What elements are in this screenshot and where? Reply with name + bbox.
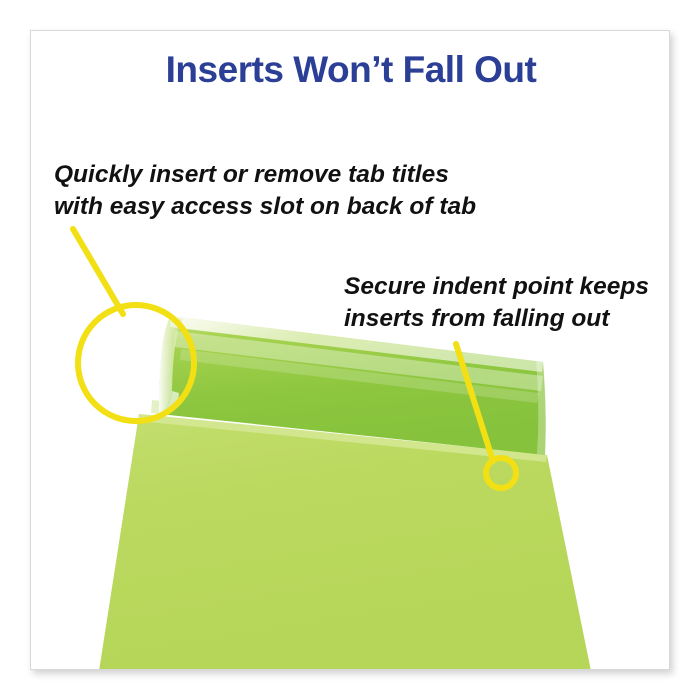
product-feature-image: Inserts Won’t Fall Out Quickly insert or…	[0, 0, 700, 700]
product-illustration	[31, 31, 670, 670]
callout-text-indent-point: Secure indent point keeps inserts from f…	[344, 271, 649, 335]
page-title: Inserts Won’t Fall Out	[31, 49, 670, 91]
callout-line-2: inserts from falling out	[344, 303, 649, 335]
callout-line-2: with easy access slot on back of tab	[54, 191, 476, 223]
callout-line-1: Secure indent point keeps	[344, 271, 649, 303]
divider-body	[99, 414, 591, 670]
callout-line-1: Quickly insert or remove tab titles	[54, 159, 476, 191]
callout-text-access-slot: Quickly insert or remove tab titles with…	[54, 159, 476, 223]
product-card: Inserts Won’t Fall Out Quickly insert or…	[30, 30, 670, 670]
